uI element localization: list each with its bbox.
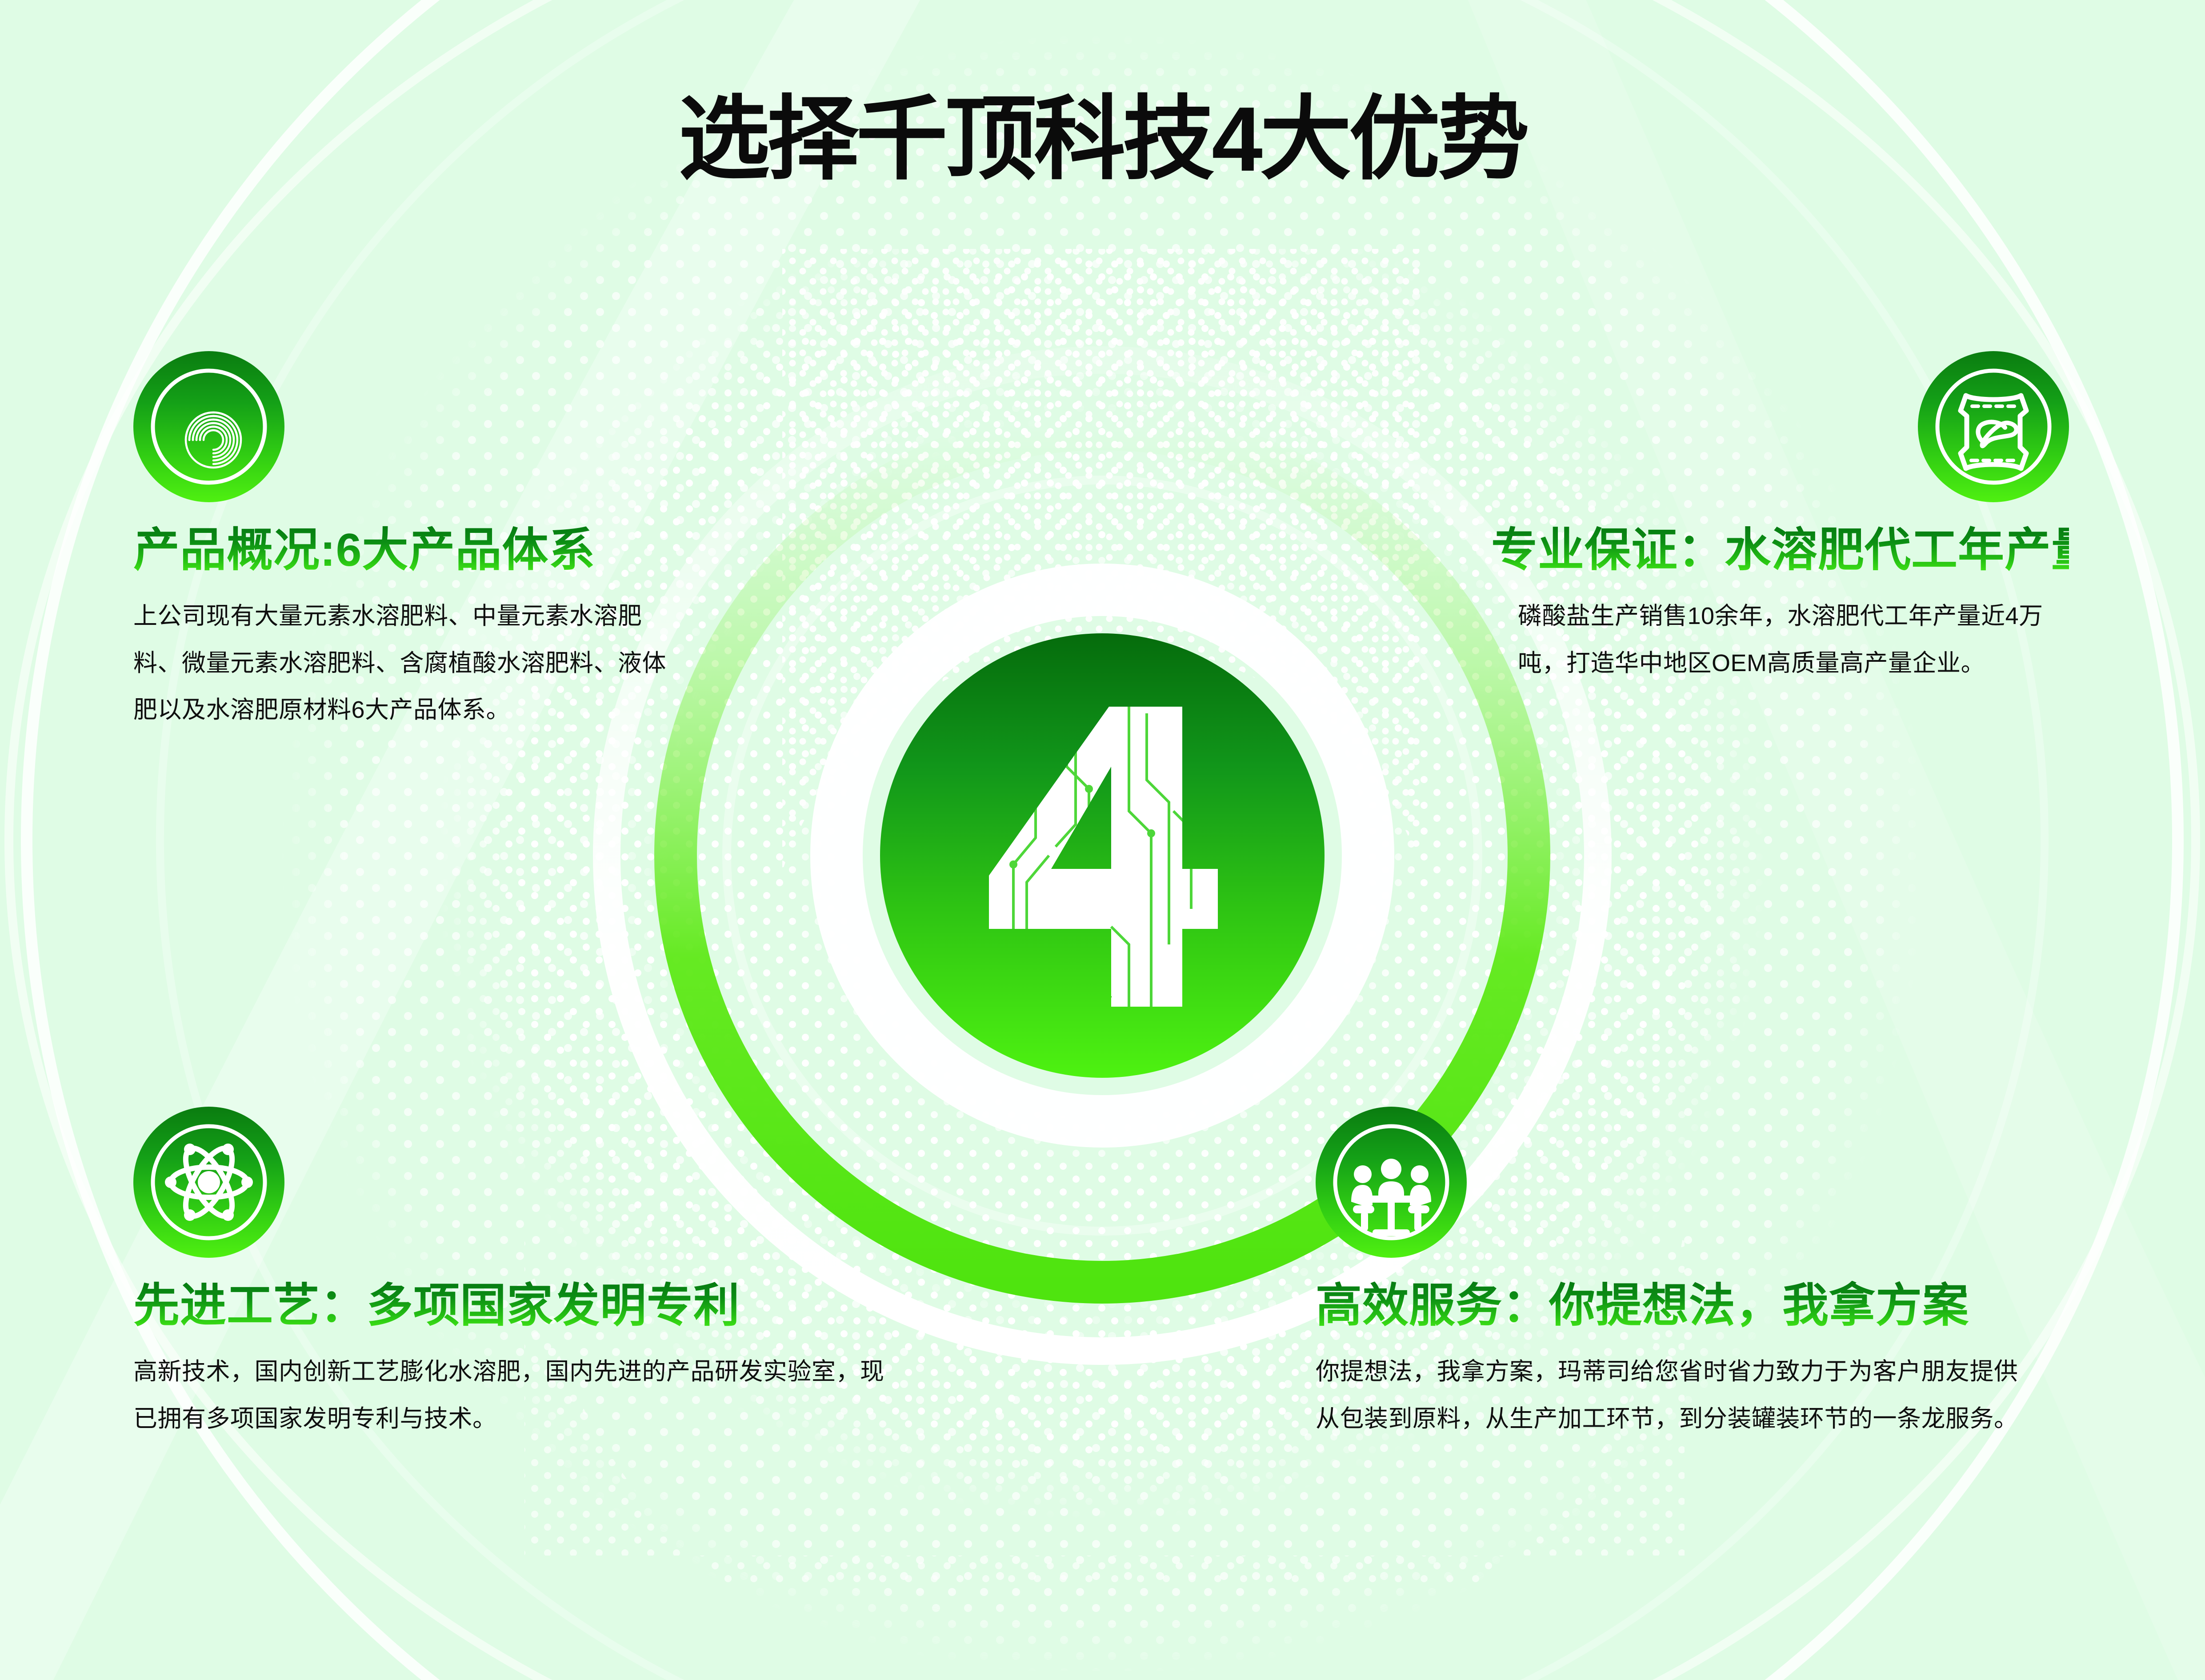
meeting-people-icon: [1316, 1107, 1467, 1258]
center-medallion: [867, 620, 1338, 1091]
feature-heading: 专业保证：水溶肥代工年产量近4万吨: [1491, 525, 2069, 575]
infographic-canvas: 选择千顶科技4大优势: [0, 0, 2205, 1680]
center-number-four-icon: [880, 633, 1325, 1078]
feature-heading: 高效服务：你提想法，我拿方案: [1316, 1281, 2071, 1331]
feature-block-efficient-service: 高效服务：你提想法，我拿方案 你提想法，我拿方案，玛蒂司给您省时省力致力于为客户…: [1316, 1107, 2071, 1442]
feature-body: 高新技术，国内创新工艺膨化水溶肥，国内先进的产品研发实验室，现已拥有多项国家发明…: [133, 1348, 889, 1442]
fertilizer-bag-icon: [1918, 351, 2069, 502]
feature-body: 你提想法，我拿方案，玛蒂司给您省时省力致力于为客户朋友提供从包装到原料，从生产加…: [1316, 1348, 2036, 1442]
feature-body: 磷酸盐生产销售10余年，水溶肥代工年产量近4万吨，打造华中地区OEM高质量高产量…: [1518, 593, 2069, 687]
feature-heading: 先进工艺：多项国家发明专利: [133, 1281, 889, 1331]
number-six-rings-icon: [133, 351, 284, 502]
page-title: 选择千顶科技4大优势: [0, 93, 2205, 185]
feature-block-professional-guarantee: 专业保证：水溶肥代工年产量近4万吨 磷酸盐生产销售10余年，水溶肥代工年产量近4…: [1491, 351, 2069, 687]
atom-icon: [133, 1107, 284, 1258]
feature-heading: 产品概况:6大产品体系: [133, 525, 711, 575]
feature-block-product-overview: 产品概况:6大产品体系 上公司现有大量元素水溶肥料、中量元素水溶肥料、微量元素水…: [133, 351, 711, 733]
feature-block-advanced-process: 先进工艺：多项国家发明专利 高新技术，国内创新工艺膨化水溶肥，国内先进的产品研发…: [133, 1107, 889, 1442]
numeral-four-shape: [989, 707, 1218, 1007]
feature-body: 上公司现有大量元素水溶肥料、中量元素水溶肥料、微量元素水溶肥料、含腐植酸水溶肥料…: [133, 593, 684, 733]
